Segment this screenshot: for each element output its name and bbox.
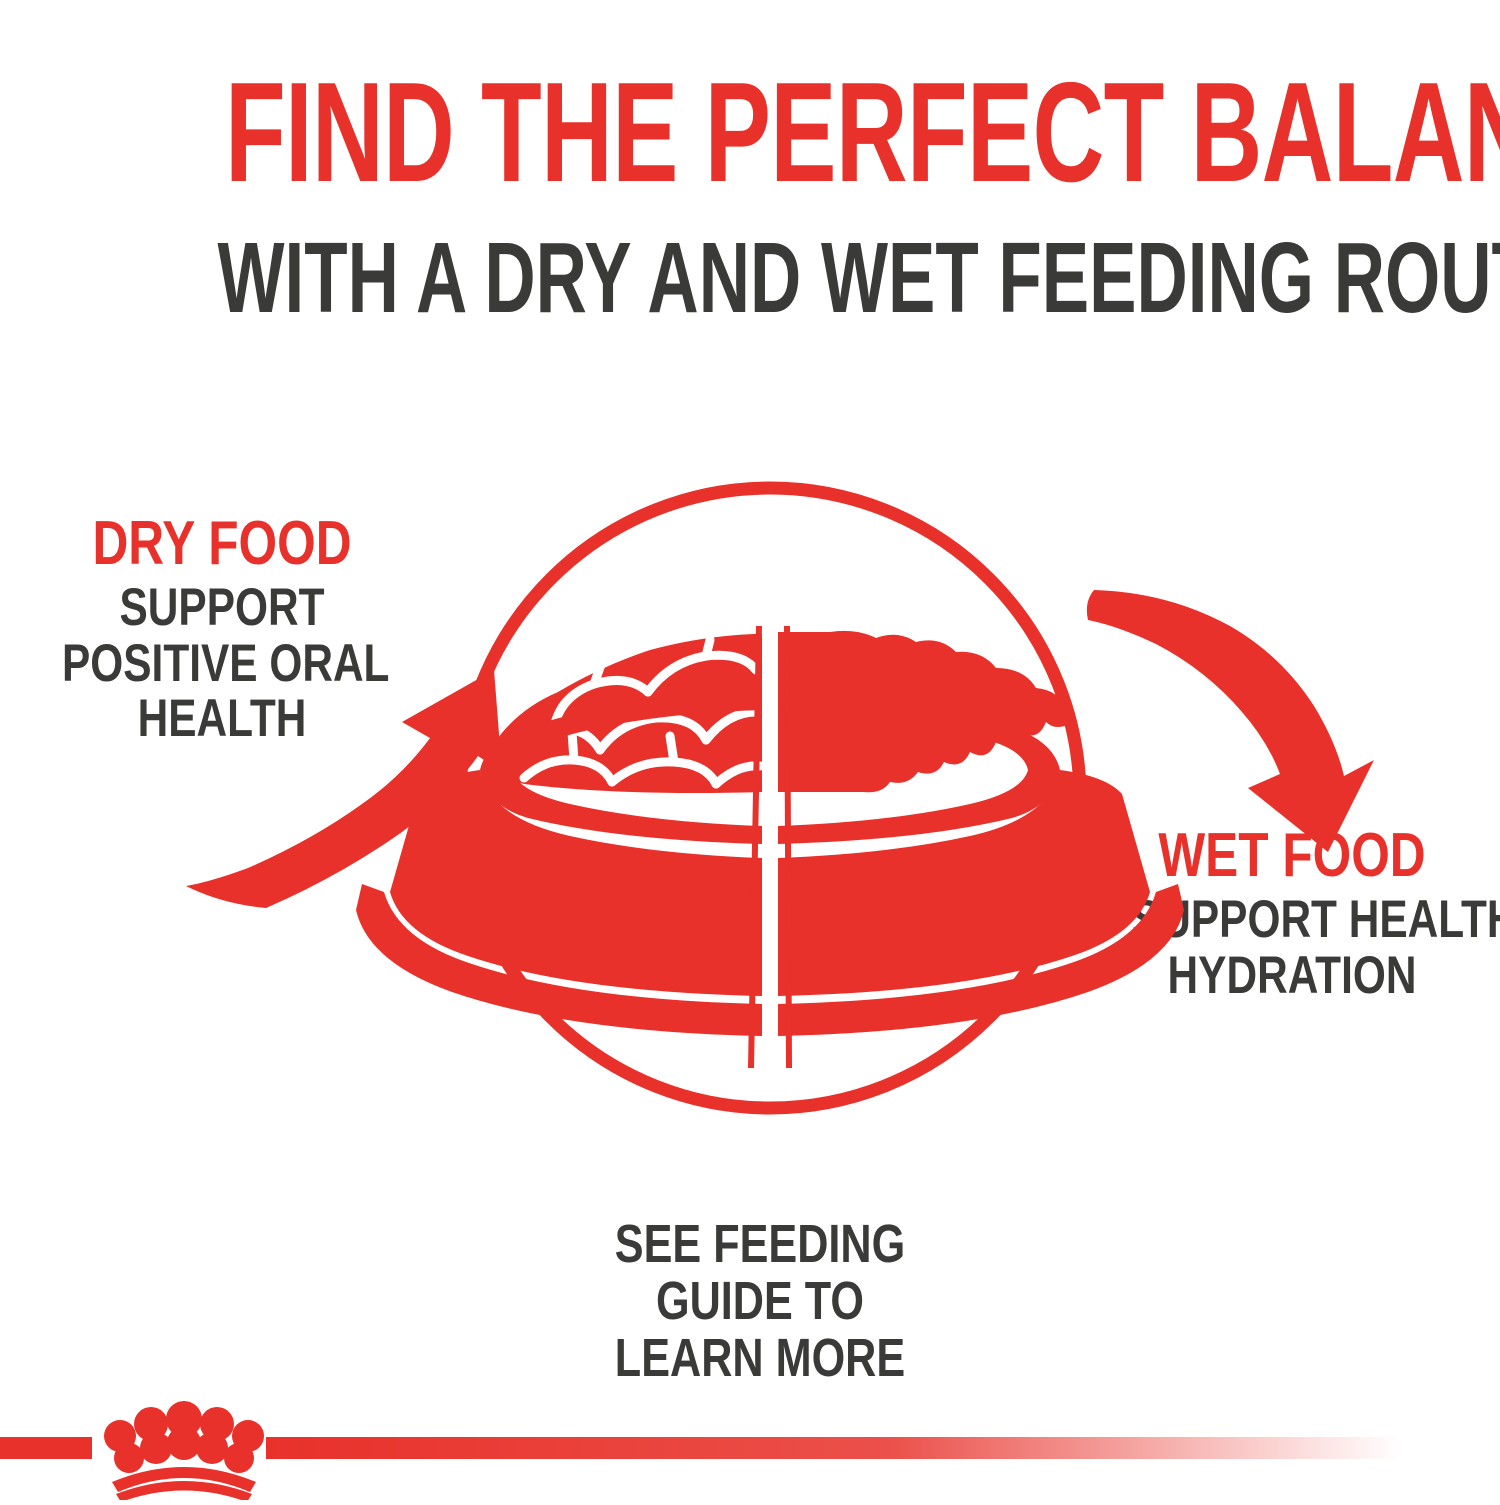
cta-line-3: LEARN MORE [568, 1330, 952, 1387]
horizontal-rule-fade-icon [266, 1437, 1400, 1459]
bowl-left-half [356, 634, 762, 1036]
page-subtitle: WITH A DRY AND WET FEEDING ROUTINE [218, 228, 1283, 328]
feeding-balance-illustration [150, 440, 1400, 1160]
footer-bar [0, 1400, 1500, 1500]
cta-line-2: GUIDE TO [568, 1273, 952, 1330]
call-to-action-block: SEE FEEDING GUIDE TO LEARN MORE [520, 1216, 1000, 1388]
curved-arrow-down-right-icon [1087, 590, 1374, 852]
page-title: FIND THE PERFECT BALANCE [225, 62, 1275, 204]
infographic-canvas: FIND THE PERFECT BALANCE WITH A DRY AND … [0, 0, 1500, 1500]
horizontal-rule-icon [0, 1437, 92, 1459]
bowl-right-half [778, 631, 1184, 1036]
cta-line-1: SEE FEEDING [568, 1216, 952, 1273]
royal-canin-crown-icon [104, 1401, 264, 1500]
